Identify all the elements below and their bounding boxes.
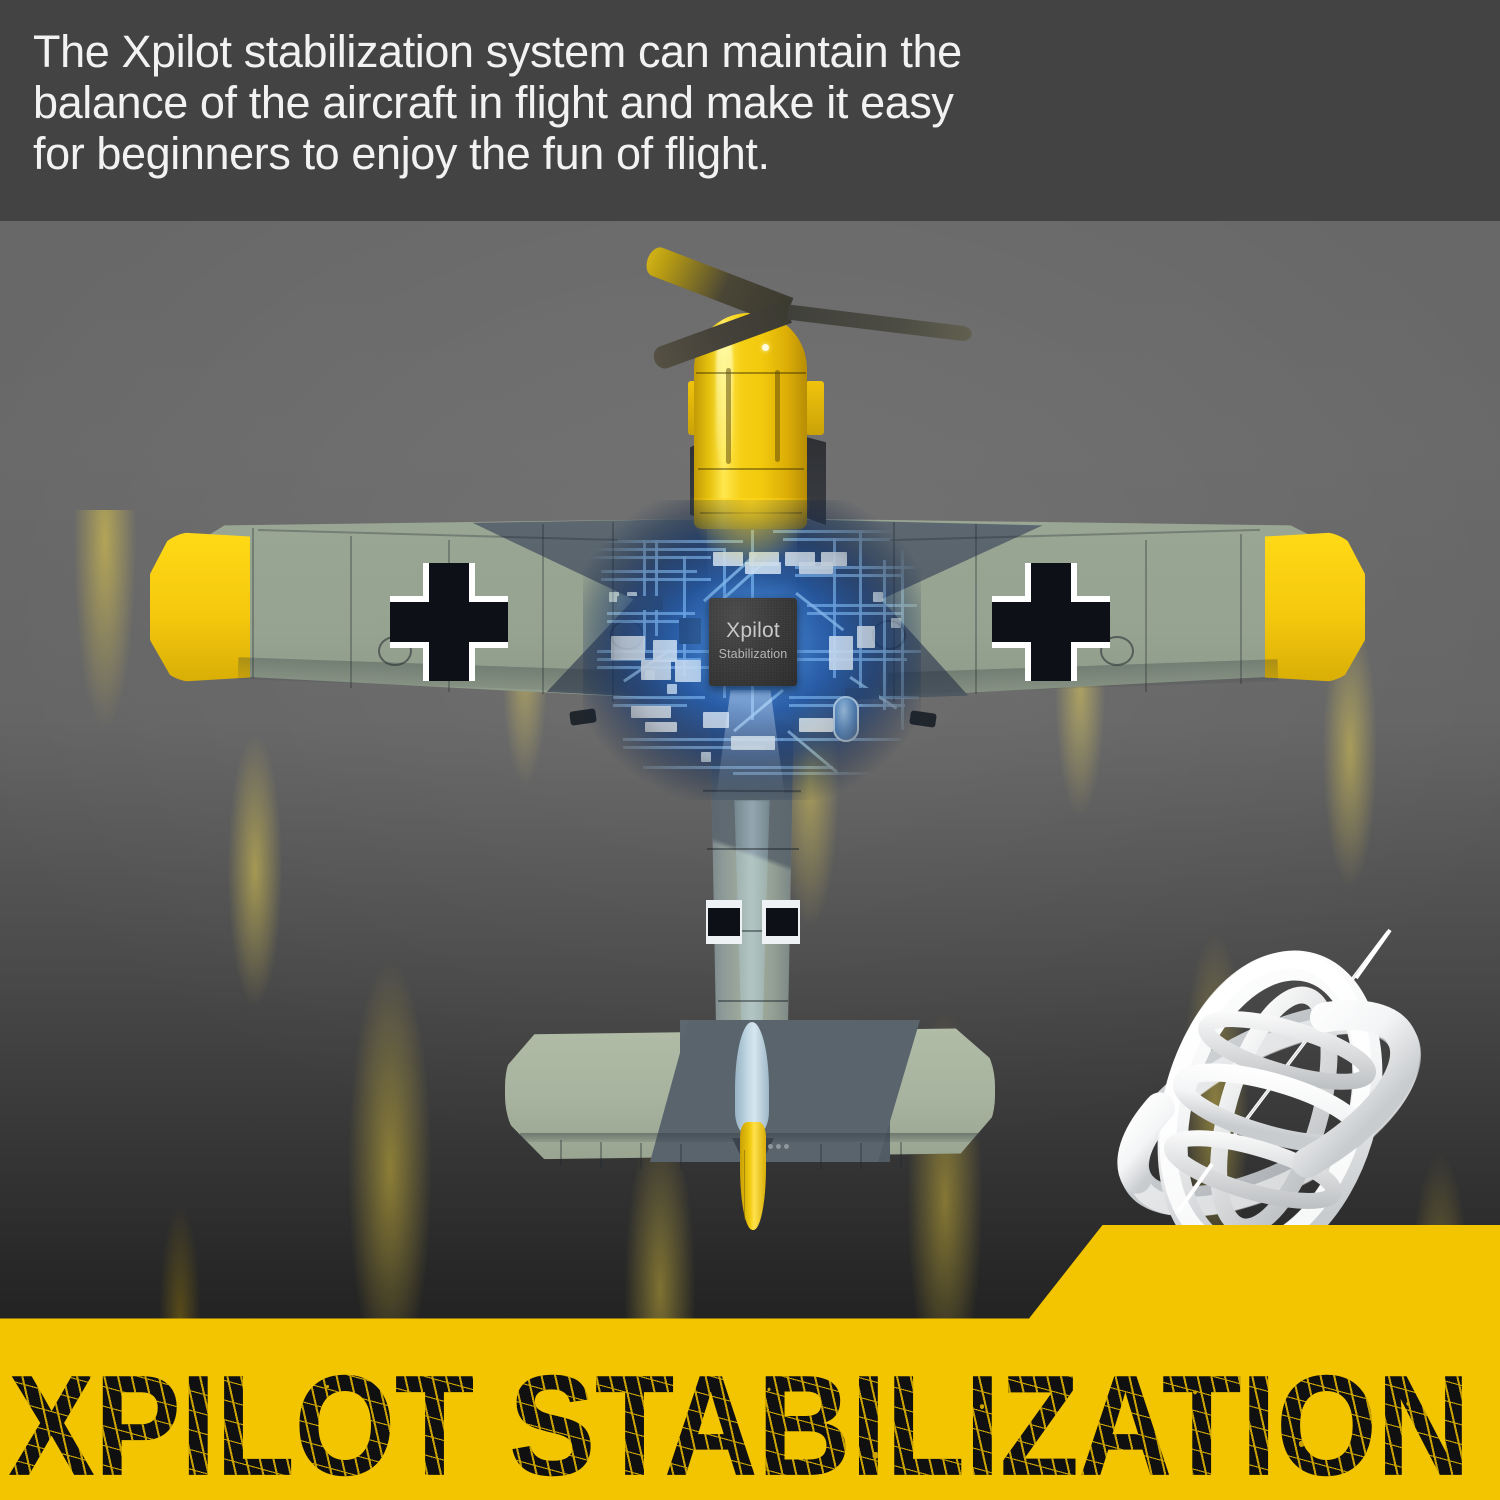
header-description: The Xpilot stabilization system can main…	[33, 26, 1183, 179]
elevator-rib	[640, 1143, 642, 1169]
chip-brand-label: Xpilot	[709, 619, 797, 643]
cowl-vent	[726, 368, 731, 464]
left-wingtip	[150, 532, 250, 682]
elevator-rib	[560, 1140, 562, 1166]
elevator-rib	[900, 1142, 902, 1168]
fuselage-seam	[718, 1000, 788, 1002]
cowl-seam	[696, 372, 806, 374]
fuselage-balkenkreuz-left	[706, 892, 802, 952]
propeller-blade	[787, 305, 972, 342]
banner-title: XPILOT STABILIZATION SYSTEM	[8, 1355, 1500, 1498]
elevator-rib	[680, 1144, 682, 1170]
tail-vents	[768, 1144, 790, 1149]
rudder-seam	[744, 1150, 745, 1220]
cowl-seam	[698, 468, 804, 470]
fuselage-seam	[707, 848, 799, 850]
chip-function-label: Stabilization	[709, 647, 797, 661]
right-wingtip	[1265, 532, 1365, 682]
left-wing-balkenkreuz	[390, 563, 508, 681]
panel-line	[252, 528, 254, 678]
elevator-rib	[860, 1143, 862, 1169]
cowl-vent	[775, 370, 780, 462]
header-bar: The Xpilot stabilization system can main…	[0, 0, 1500, 221]
promo-graphic: Xpilot Stabilization	[0, 0, 1500, 1500]
cowl-specular-dot	[762, 344, 769, 351]
panel-line	[975, 524, 977, 694]
propeller	[633, 262, 943, 342]
elevator-rib	[820, 1144, 822, 1170]
right-wing-balkenkreuz	[992, 563, 1110, 681]
xpilot-chip: Xpilot Stabilization	[709, 598, 797, 686]
elevator-rib	[600, 1142, 602, 1168]
right-cowl-tab	[806, 381, 824, 435]
